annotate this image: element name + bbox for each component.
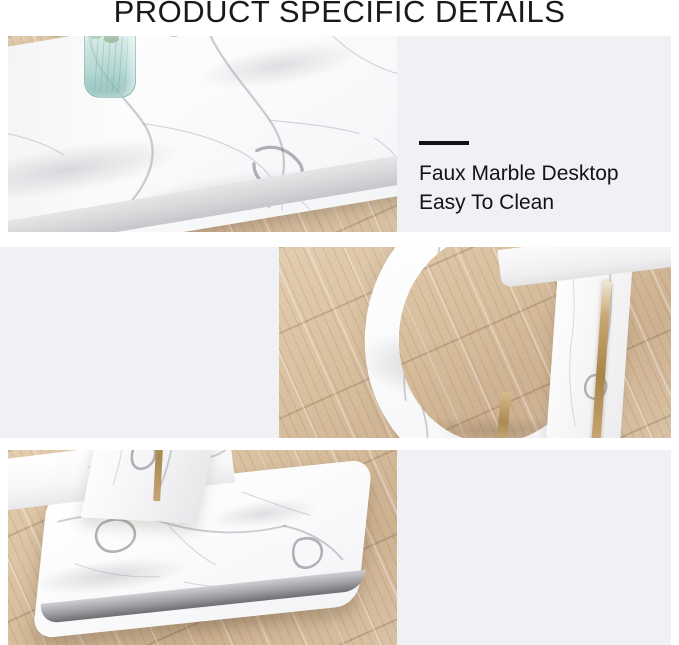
caption-faux-marble-desktop: Faux Marble Desktop Easy To Clean bbox=[419, 141, 619, 217]
glass-vase bbox=[84, 36, 136, 98]
caption-line: Easy To Clean bbox=[419, 188, 619, 217]
caption-line: Faux Marble Desktop bbox=[419, 159, 619, 188]
product-details-page: PRODUCT SPECIFIC DETAILS bbox=[0, 0, 679, 645]
detail-panel-faux-marble-desktop: Faux Marble Desktop Easy To Clean bbox=[8, 36, 671, 232]
detail-panel-strong-support-leg: Strong Support Leg bbox=[0, 247, 671, 438]
product-photo-faux-marble-desktop bbox=[8, 36, 397, 232]
caption-rule bbox=[419, 141, 469, 145]
product-photo-strong-support-leg bbox=[279, 247, 671, 438]
page-title: PRODUCT SPECIFIC DETAILS bbox=[0, 0, 679, 30]
detail-panel-mdf-base: MDF Base Stable Support bbox=[8, 450, 671, 645]
product-photo-mdf-base bbox=[8, 450, 397, 645]
